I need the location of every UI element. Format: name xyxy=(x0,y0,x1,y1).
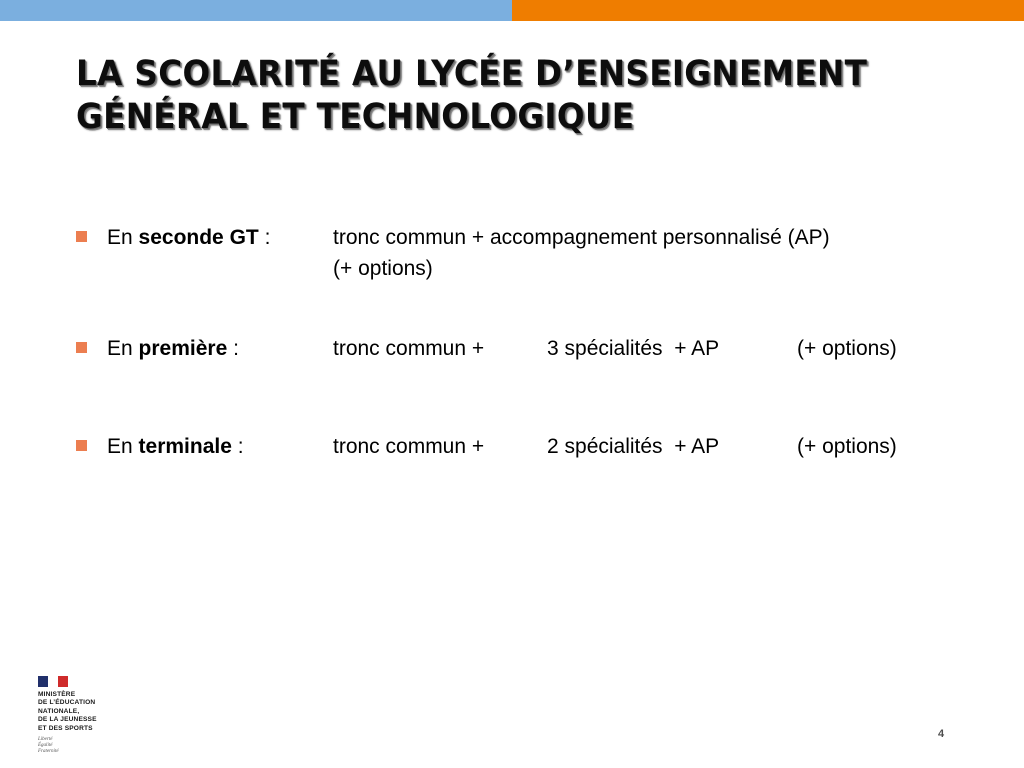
detail-line: tronc commun +3 spécialités + AP(+ optio… xyxy=(333,333,1006,364)
ministry-name: MINISTÈRE DE L’ÉDUCATION NATIONALE, DE L… xyxy=(38,691,124,733)
flag-white-band xyxy=(48,676,58,687)
detail-segment-common: tronc commun + xyxy=(333,431,547,462)
square-bullet-icon xyxy=(76,231,87,242)
bullet-item-terminale: En terminale : tronc commun +2 spécialit… xyxy=(76,431,1006,462)
bullet-label-terminale: En terminale : xyxy=(87,431,333,462)
motto-line: Fraternité xyxy=(38,749,124,755)
bullet-item-seconde: En seconde GT : tronc commun + accompagn… xyxy=(76,222,1006,284)
bullet-label-suffix: : xyxy=(232,435,244,458)
flag-red-band xyxy=(58,676,68,687)
detail-segment-common: tronc commun + xyxy=(333,333,547,364)
slide-title-line-1: LA SCOLARITÉ AU LYCÉE D’ENSEIGNEMENT xyxy=(76,53,904,96)
bullet-label-premiere: En première : xyxy=(87,333,333,364)
republic-motto: Liberté Égalité Fraternité xyxy=(38,737,124,755)
top-banner-blue-segment xyxy=(0,0,512,21)
detail-line: tronc commun + accompagnement personnali… xyxy=(333,222,1006,253)
ministry-name-line: DE L’ÉDUCATION xyxy=(38,699,124,707)
bullet-label-prefix: En xyxy=(107,226,139,249)
bullet-label-strong: première xyxy=(139,337,228,360)
bullet-detail-terminale: tronc commun +2 spécialités + AP(+ optio… xyxy=(333,431,1006,462)
top-banner xyxy=(0,0,1024,21)
bullet-detail-premiere: tronc commun +3 spécialités + AP(+ optio… xyxy=(333,333,1006,364)
bullet-label-suffix: : xyxy=(227,337,239,360)
slide-title-line-2: GÉNÉRAL ET TECHNOLOGIQUE xyxy=(76,96,904,139)
detail-segment-options: (+ options) xyxy=(797,435,897,458)
detail-line: (+ options) xyxy=(333,253,1006,284)
french-tricolor-flag-icon xyxy=(38,676,68,687)
square-bullet-icon xyxy=(76,342,87,353)
ministry-name-line: DE LA JEUNESSE xyxy=(38,716,124,724)
bullet-label-strong: seconde GT xyxy=(139,226,259,249)
detail-segment-options: (+ options) xyxy=(797,337,897,360)
bullet-label-prefix: En xyxy=(107,337,139,360)
bullet-label-strong: terminale xyxy=(139,435,232,458)
ministry-name-line: NATIONALE, xyxy=(38,708,124,716)
bullet-label-prefix: En xyxy=(107,435,139,458)
ministry-logo: MINISTÈRE DE L’ÉDUCATION NATIONALE, DE L… xyxy=(38,676,124,755)
top-banner-orange-segment xyxy=(512,0,1024,21)
bullet-item-premiere: En première : tronc commun +3 spécialité… xyxy=(76,333,1006,364)
slide-title: LA SCOLARITÉ AU LYCÉE D’ENSEIGNEMENT GÉN… xyxy=(76,53,966,139)
ministry-name-line: ET DES SPORTS xyxy=(38,725,124,733)
bullet-detail-seconde: tronc commun + accompagnement personnali… xyxy=(333,222,1006,284)
page-number: 4 xyxy=(938,728,944,740)
detail-segment-specialites: 3 spécialités + AP xyxy=(547,333,797,364)
bullet-label-seconde: En seconde GT : xyxy=(87,222,333,253)
detail-segment-specialites: 2 spécialités + AP xyxy=(547,431,797,462)
flag-blue-band xyxy=(38,676,48,687)
detail-line: tronc commun +2 spécialités + AP(+ optio… xyxy=(333,431,1006,462)
square-bullet-icon xyxy=(76,440,87,451)
bullet-label-suffix: : xyxy=(259,226,271,249)
